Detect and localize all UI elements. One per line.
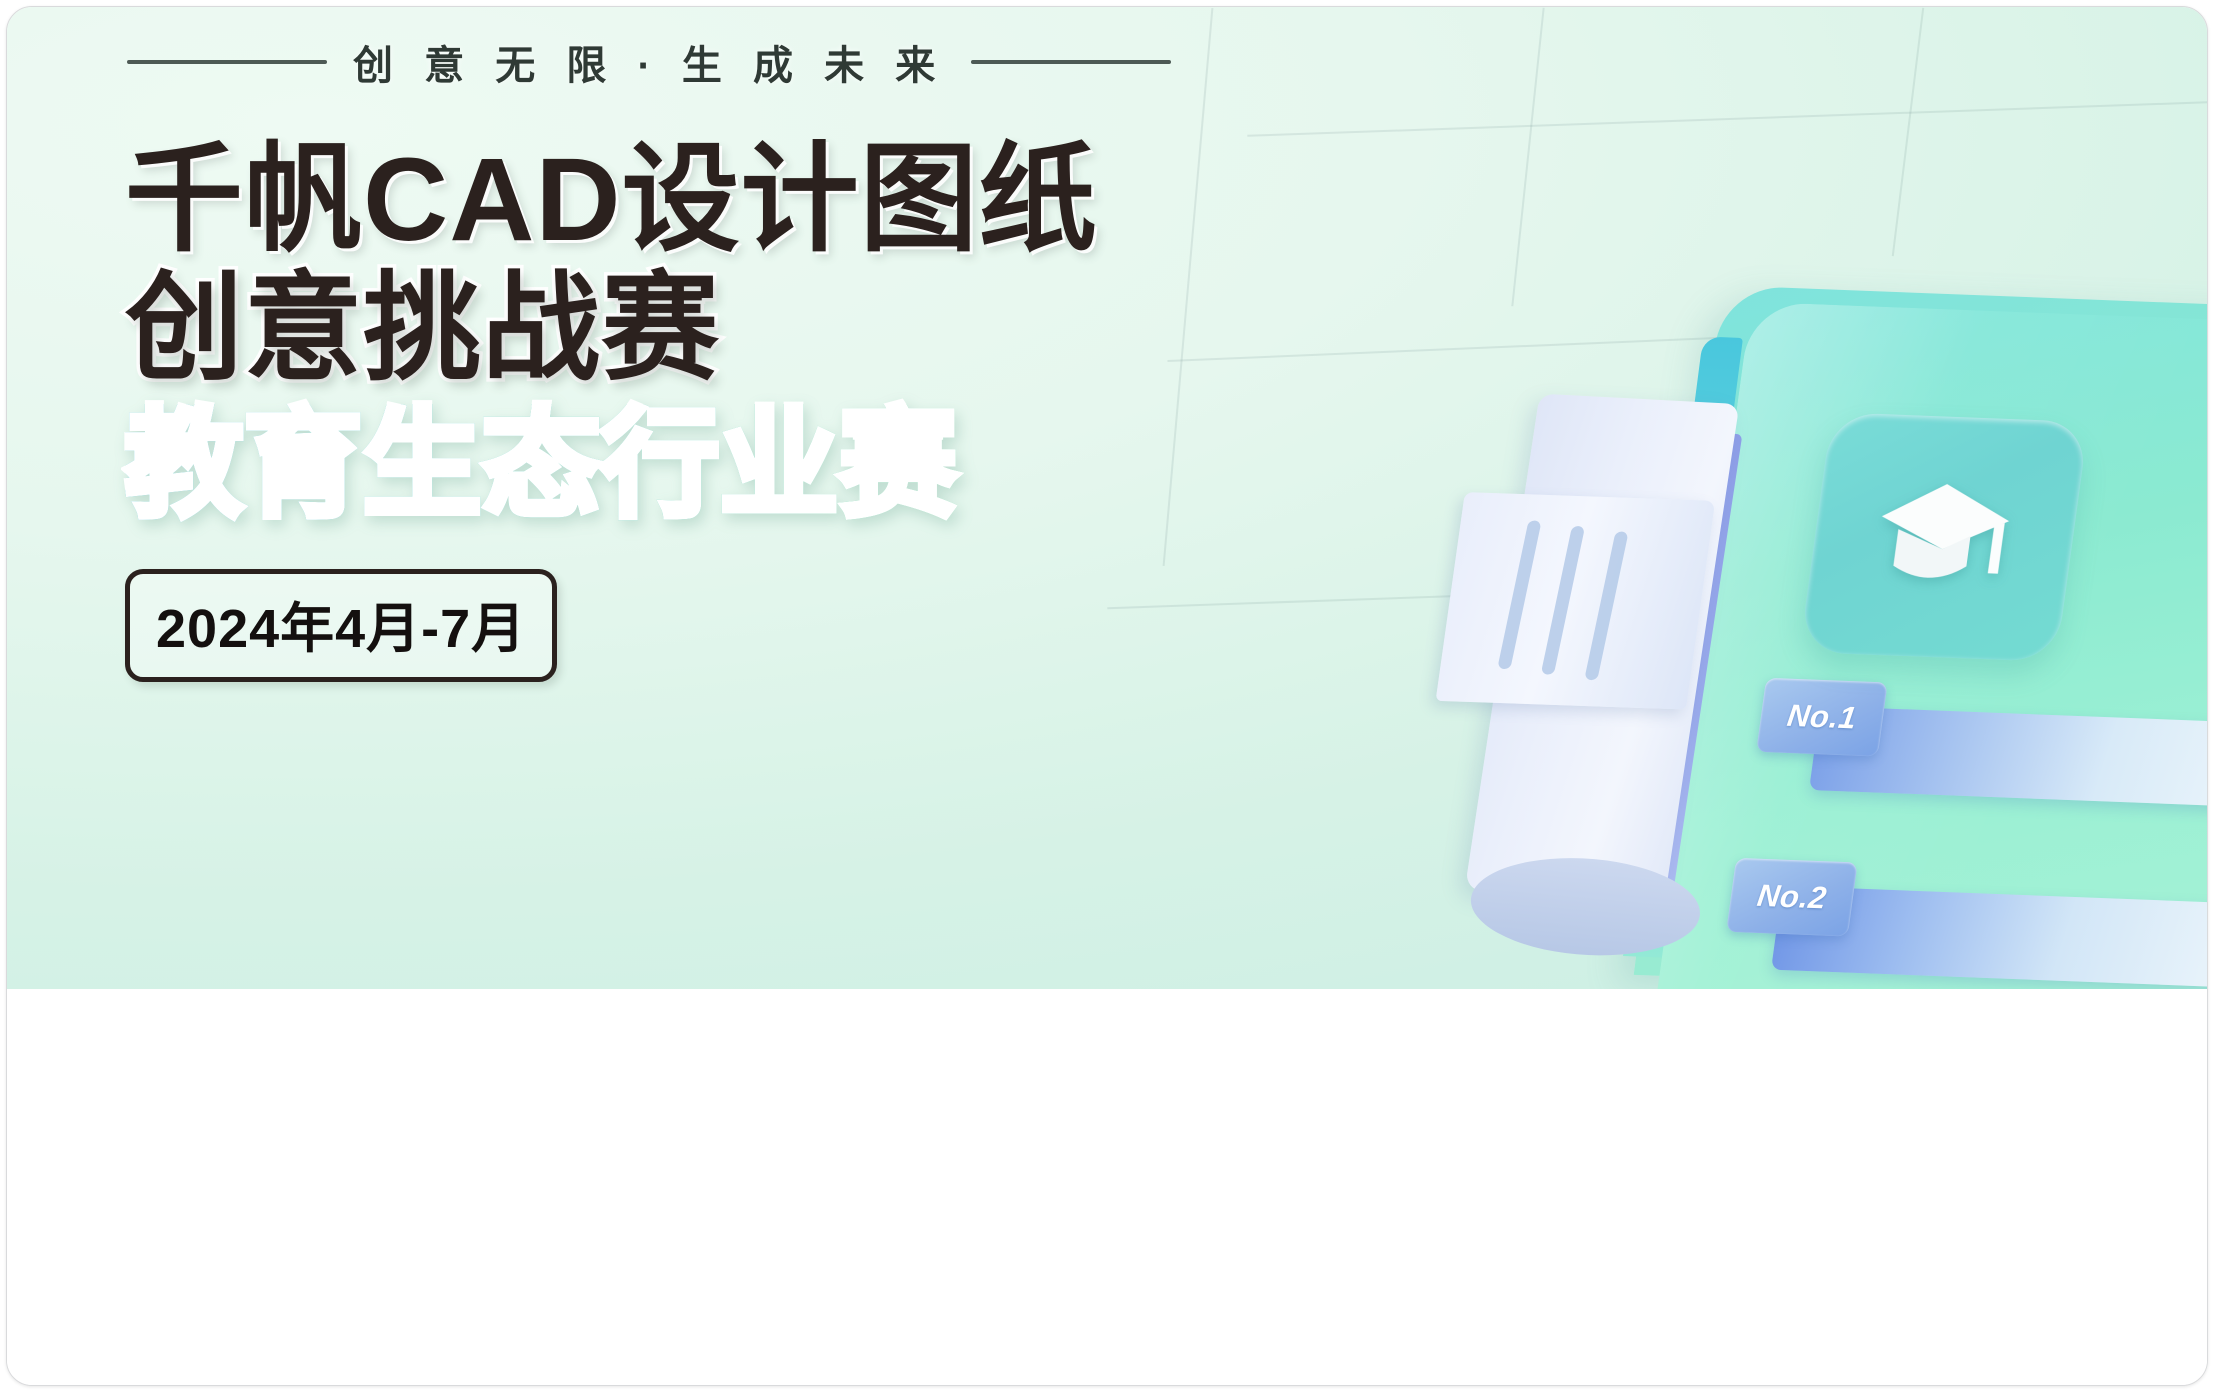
scroll-sheet [1436,492,1716,709]
event-date-text: 2024年4月-7月 [156,599,526,659]
rank-row-2: No.2 [1720,858,2207,989]
banner-tagline: 创 意 无 限 · 生 成 未 来 [127,33,1171,91]
event-banner: No.1 No.2 [7,7,2207,989]
headline-line-3: 教育生态行业赛 [125,404,1098,527]
tagline-text: 创 意 无 限 · 生 成 未 来 [353,33,945,91]
headline-line-1: 千帆CAD设计图纸 [125,139,1098,262]
rank-row-1: No.1 [1750,678,2207,816]
rank-chip-1: No.1 [1756,678,1888,757]
banner-illustration: No.1 No.2 [1427,267,2207,989]
graduation-cap-icon [1865,475,2022,598]
page-content-area [7,989,2207,1385]
rank-chip-2: No.2 [1726,858,1858,937]
event-date-badge: 2024年4月-7月 [125,569,557,682]
tagline-rule-right [971,60,1171,64]
banner-headline: 千帆CAD设计图纸 创意挑战赛 教育生态行业赛 2024年4月-7月 [125,139,1098,682]
blueprint-scroll [1433,390,1761,945]
tagline-rule-left [127,60,327,64]
graduation-cap-tile [1799,412,2089,662]
headline-line-2: 创意挑战赛 [125,268,1098,391]
page-card: No.1 No.2 [6,6,2208,1386]
